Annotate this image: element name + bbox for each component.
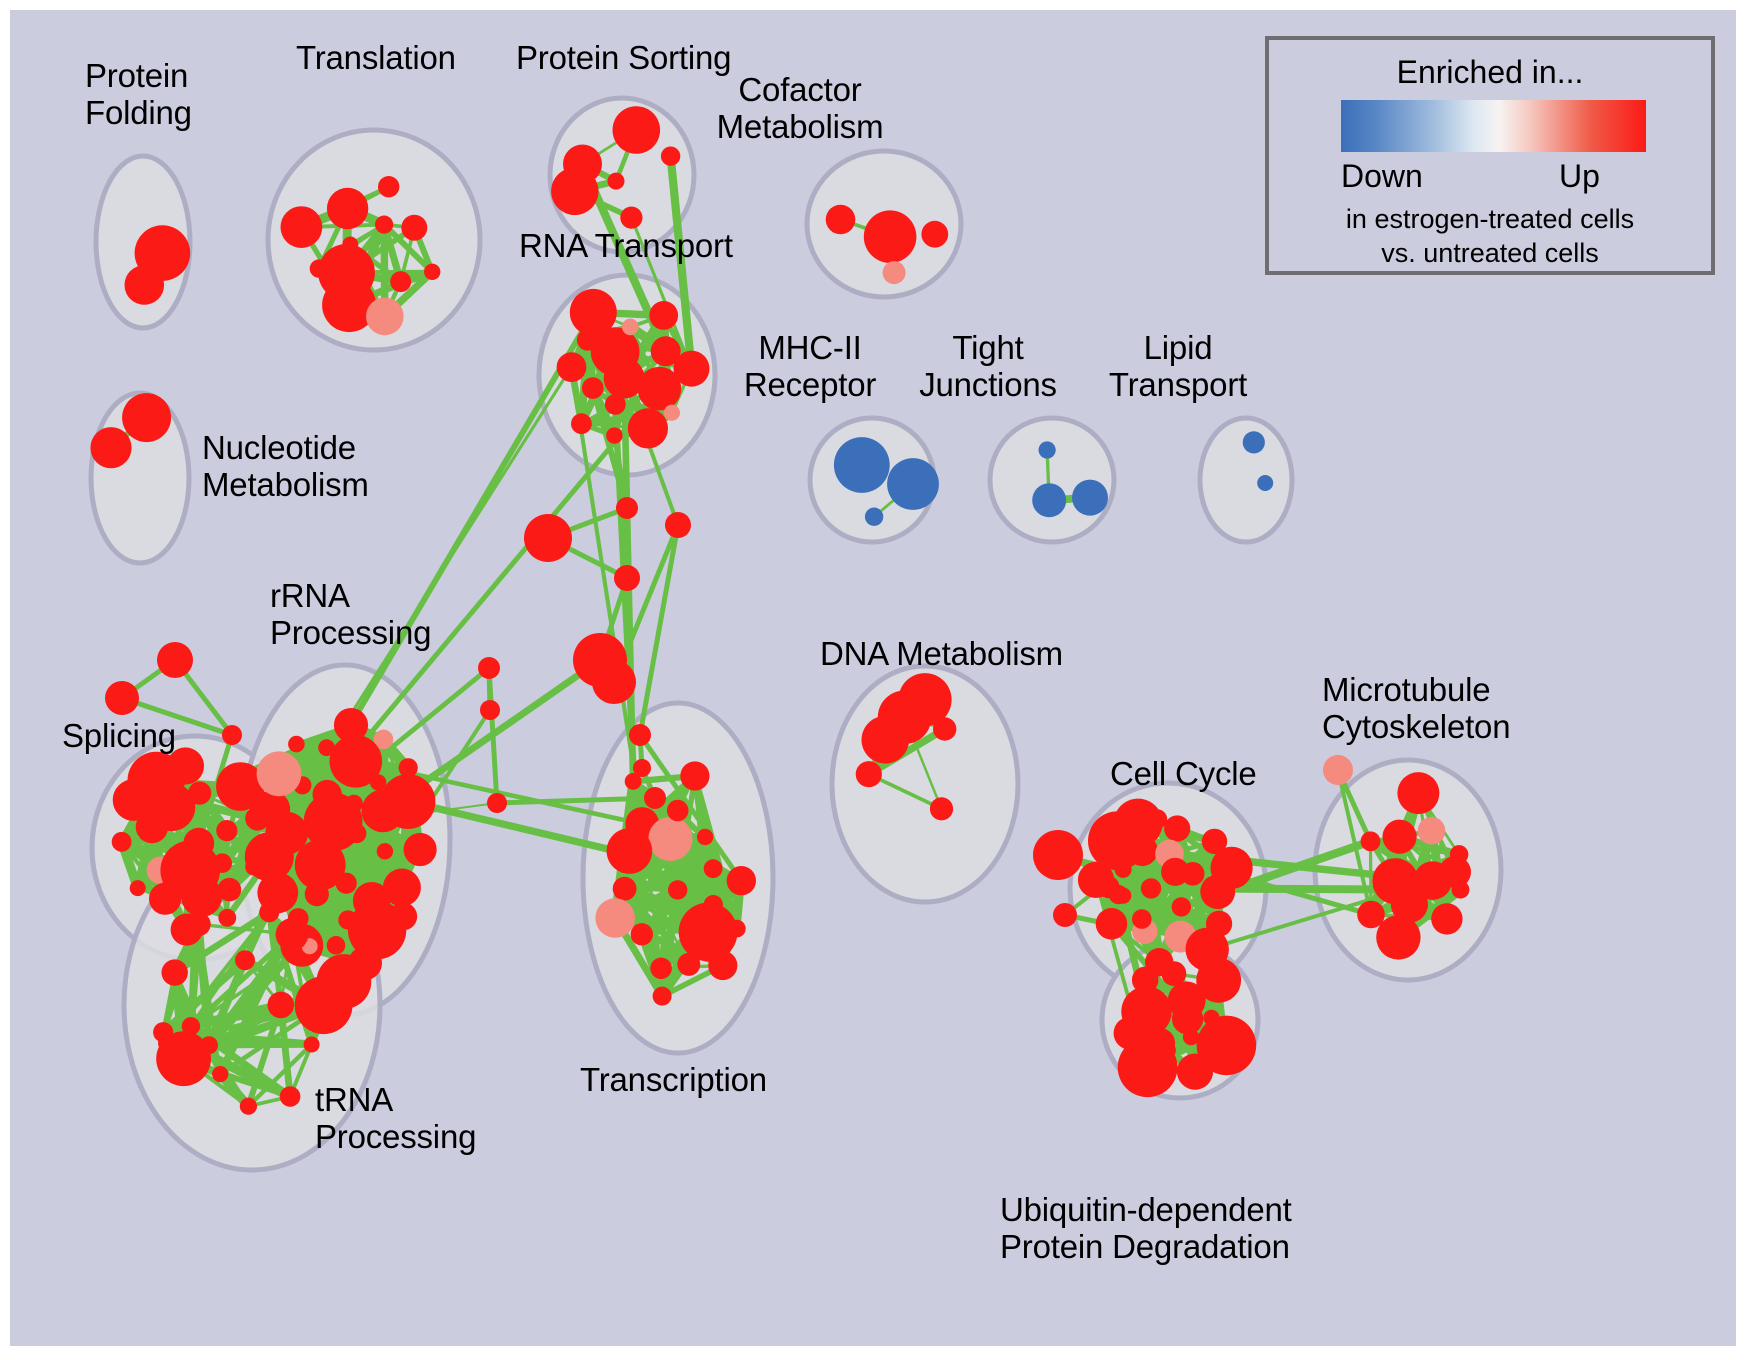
network-node[interactable]: [304, 793, 363, 852]
network-node[interactable]: [1372, 858, 1418, 904]
network-node[interactable]: [631, 923, 653, 945]
cluster-label-splicing: Splicing: [62, 718, 176, 755]
network-node[interactable]: [551, 168, 598, 215]
network-node[interactable]: [381, 774, 436, 829]
network-node[interactable]: [613, 106, 661, 154]
network-node[interactable]: [1114, 1017, 1147, 1050]
cluster-label-ubiquitin-protein-degradation: Ubiquitin-dependent Protein Degradation: [1000, 1192, 1292, 1266]
network-node[interactable]: [727, 866, 756, 895]
legend-box: Enriched in... Down Up in estrogen-treat…: [1265, 36, 1715, 275]
network-node[interactable]: [865, 508, 883, 526]
network-node[interactable]: [1159, 1042, 1176, 1059]
network-node[interactable]: [704, 859, 723, 878]
cluster-label-translation: Translation: [296, 40, 456, 77]
network-node[interactable]: [604, 358, 645, 399]
network-node[interactable]: [664, 405, 680, 421]
network-node[interactable]: [222, 725, 242, 745]
network-node[interactable]: [704, 895, 723, 914]
network-node[interactable]: [1431, 903, 1462, 934]
legend-title: Enriched in...: [1269, 54, 1711, 91]
network-node[interactable]: [375, 216, 393, 234]
network-node[interactable]: [933, 717, 956, 740]
network-node[interactable]: [680, 761, 709, 790]
network-node[interactable]: [112, 832, 132, 852]
network-node[interactable]: [628, 408, 668, 448]
network-node[interactable]: [245, 832, 294, 881]
network-node[interactable]: [606, 427, 622, 443]
network-node[interactable]: [135, 225, 191, 281]
network-node[interactable]: [157, 642, 193, 678]
network-node[interactable]: [1209, 1022, 1225, 1038]
network-node[interactable]: [878, 691, 932, 745]
network-node[interactable]: [605, 394, 626, 415]
network-node[interactable]: [648, 817, 692, 861]
legend-subtitle-line-1: in estrogen-treated cells: [1269, 204, 1711, 235]
network-node[interactable]: [1397, 772, 1439, 814]
network-node[interactable]: [661, 147, 680, 166]
network-node[interactable]: [595, 898, 635, 938]
network-node[interactable]: [288, 736, 305, 753]
network-node[interactable]: [281, 206, 323, 248]
network-node[interactable]: [162, 959, 188, 985]
network-node[interactable]: [342, 237, 358, 253]
network-node[interactable]: [257, 751, 302, 796]
network-node[interactable]: [259, 902, 279, 922]
network-node[interactable]: [317, 954, 372, 1009]
legend-subtitle-line-2: vs. untreated cells: [1269, 238, 1711, 269]
network-node[interactable]: [330, 735, 383, 788]
network-node[interactable]: [424, 264, 440, 280]
network-node[interactable]: [1206, 911, 1232, 937]
cluster-label-dna-metabolism: DNA Metabolism: [820, 636, 1063, 673]
network-node[interactable]: [401, 215, 427, 241]
network-node[interactable]: [887, 458, 939, 510]
enrichment-map-figure: Protein FoldingTranslationProtein Sortin…: [0, 0, 1750, 1360]
network-node[interactable]: [629, 724, 651, 746]
network-node[interactable]: [1053, 903, 1077, 927]
network-node[interactable]: [390, 271, 411, 292]
network-node[interactable]: [377, 843, 393, 859]
network-node[interactable]: [1132, 967, 1159, 994]
network-node[interactable]: [613, 877, 637, 901]
network-node[interactable]: [826, 205, 856, 235]
network-node[interactable]: [1418, 817, 1446, 845]
network-node[interactable]: [338, 910, 357, 929]
network-node[interactable]: [644, 787, 666, 809]
network-node[interactable]: [1132, 909, 1152, 929]
network-node[interactable]: [1096, 908, 1128, 940]
network-node[interactable]: [305, 882, 329, 906]
network-node[interactable]: [310, 259, 328, 277]
network-node[interactable]: [1141, 878, 1161, 898]
network-node[interactable]: [404, 833, 437, 866]
network-node[interactable]: [1383, 820, 1417, 854]
network-node[interactable]: [1439, 856, 1471, 888]
network-node[interactable]: [212, 1066, 228, 1082]
cluster-label-microtubule-cytoskeleton: Microtubule Cytoskeleton: [1322, 672, 1510, 746]
network-node[interactable]: [570, 289, 617, 336]
network-node[interactable]: [366, 298, 404, 336]
network-node[interactable]: [864, 210, 917, 263]
network-node[interactable]: [182, 1017, 200, 1035]
network-node[interactable]: [187, 912, 211, 936]
network-node[interactable]: [130, 880, 146, 896]
cluster-label-rrna-processing: rRNA Processing: [270, 578, 431, 652]
network-node[interactable]: [216, 820, 237, 841]
cluster-ellipse-tight-junctions[interactable]: [990, 418, 1114, 542]
cluster-label-trna-processing: tRNA Processing: [315, 1082, 476, 1156]
network-node[interactable]: [1202, 829, 1227, 854]
network-node[interactable]: [235, 950, 255, 970]
cluster-label-protein-folding: Protein Folding: [85, 58, 192, 132]
network-node[interactable]: [582, 377, 604, 399]
network-node[interactable]: [478, 657, 500, 679]
network-node[interactable]: [218, 909, 236, 927]
network-node[interactable]: [856, 761, 882, 787]
network-node[interactable]: [607, 828, 653, 874]
network-node[interactable]: [665, 512, 691, 538]
cluster-label-protein-sorting: Protein Sorting: [516, 40, 731, 77]
legend-color-gradient-bar: [1341, 100, 1646, 152]
network-node[interactable]: [253, 791, 291, 829]
cluster-label-tight-junctions: Tight Junctions: [919, 330, 1057, 404]
network-node[interactable]: [921, 221, 948, 248]
network-node[interactable]: [1161, 858, 1189, 886]
network-node[interactable]: [649, 301, 678, 330]
network-node[interactable]: [650, 958, 672, 980]
network-node[interactable]: [1097, 876, 1119, 898]
network-node[interactable]: [557, 352, 587, 382]
network-node[interactable]: [276, 918, 309, 951]
network-node[interactable]: [212, 853, 232, 873]
network-node[interactable]: [667, 800, 689, 822]
legend-down-label: Down: [1341, 158, 1423, 195]
network-node[interactable]: [1039, 441, 1056, 458]
network-node[interactable]: [571, 413, 592, 434]
network-node[interactable]: [327, 188, 368, 229]
network-node[interactable]: [158, 1034, 176, 1052]
network-node[interactable]: [240, 1098, 257, 1115]
network-node[interactable]: [697, 829, 713, 845]
network-node[interactable]: [1177, 1054, 1213, 1090]
network-node[interactable]: [200, 1036, 218, 1054]
network-node[interactable]: [149, 883, 181, 915]
cluster-label-transcription: Transcription: [580, 1062, 767, 1099]
network-node[interactable]: [677, 953, 700, 976]
network-node[interactable]: [930, 797, 953, 820]
network-node[interactable]: [834, 437, 890, 493]
network-node[interactable]: [136, 811, 168, 843]
network-node[interactable]: [1033, 830, 1083, 880]
network-node[interactable]: [592, 660, 636, 704]
network-node[interactable]: [638, 367, 682, 411]
network-node[interactable]: [304, 1037, 320, 1053]
legend-up-label: Up: [1559, 158, 1600, 195]
network-node[interactable]: [1323, 755, 1353, 785]
network-node[interactable]: [614, 565, 640, 591]
network-node[interactable]: [105, 681, 139, 715]
network-node[interactable]: [1243, 431, 1265, 453]
network-node[interactable]: [327, 936, 346, 955]
network-node[interactable]: [378, 176, 399, 197]
network-node[interactable]: [1172, 1003, 1203, 1034]
network-node[interactable]: [883, 261, 906, 284]
network-node[interactable]: [90, 427, 131, 468]
cluster-label-rna-transport: RNA Transport: [519, 228, 733, 265]
network-edge: [209, 1044, 312, 1045]
cluster-label-nucleotide-metabolism: Nucleotide Metabolism: [202, 430, 369, 504]
cluster-label-cofactor-metabolism: Cofactor Metabolism: [717, 72, 884, 146]
network-node[interactable]: [651, 336, 681, 366]
network-node[interactable]: [383, 869, 421, 907]
network-node[interactable]: [487, 793, 507, 813]
network-node[interactable]: [1172, 897, 1191, 916]
network-node[interactable]: [122, 393, 171, 442]
network-node[interactable]: [622, 319, 639, 336]
network-node[interactable]: [1357, 901, 1385, 929]
network-node[interactable]: [480, 700, 500, 720]
network-node[interactable]: [668, 880, 687, 899]
network-node[interactable]: [633, 759, 651, 777]
network-node[interactable]: [1361, 831, 1381, 851]
network-node[interactable]: [608, 173, 625, 190]
network-node[interactable]: [708, 951, 737, 980]
network-node[interactable]: [399, 758, 418, 777]
network-node[interactable]: [653, 987, 672, 1006]
network-node[interactable]: [1164, 815, 1190, 841]
network-node[interactable]: [268, 992, 295, 1019]
network-node[interactable]: [1032, 483, 1066, 517]
network-node[interactable]: [620, 207, 642, 229]
network-node[interactable]: [616, 497, 638, 519]
network-node[interactable]: [389, 903, 417, 931]
cluster-label-cell-cycle: Cell Cycle: [1110, 756, 1257, 793]
cluster-label-lipid-transport: Lipid Transport: [1109, 330, 1247, 404]
network-node[interactable]: [1257, 475, 1273, 491]
network-node[interactable]: [1088, 811, 1147, 870]
network-node[interactable]: [1072, 480, 1108, 516]
cluster-label-mhc-ii-receptor: MHC-II Receptor: [744, 330, 876, 404]
network-node[interactable]: [280, 1086, 301, 1107]
network-node[interactable]: [176, 792, 195, 811]
network-node[interactable]: [1148, 809, 1167, 828]
network-node[interactable]: [524, 514, 572, 562]
